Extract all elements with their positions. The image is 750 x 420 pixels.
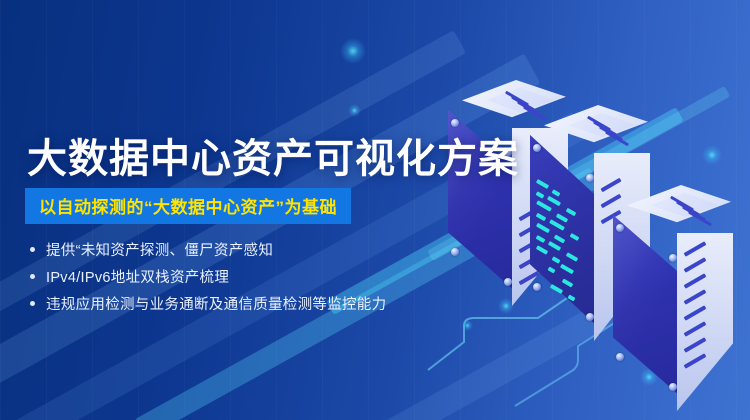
rack3-front-face	[613, 215, 679, 395]
bullet-dot-icon	[30, 274, 35, 279]
list-item: 提供“未知资产探测、僵尸资产感知	[30, 236, 386, 263]
bullet-dot-icon	[30, 247, 35, 252]
rack2-screw	[533, 144, 541, 152]
list-item-label: 违规应用检测与业务通断及通信质量检测等监控能力	[46, 293, 386, 314]
banner-hero: 大数据中心资产可视化方案 以自动探测的“大数据中心资产”为基础 提供“未知资产探…	[0, 0, 750, 420]
list-item: IPv4/IPv6地址双栈资产梳理	[30, 263, 386, 290]
glow-particle-2	[348, 104, 361, 117]
rack2-screw	[586, 313, 594, 321]
rack3-screw	[669, 254, 677, 262]
rack3-screw	[616, 224, 624, 232]
subtitle-bar: 以自动探测的“大数据中心资产”为基础	[25, 188, 351, 224]
rack1-screw	[451, 248, 459, 256]
bullet-dot-icon	[30, 301, 35, 306]
glow-particle-1	[340, 38, 366, 64]
rack2-screw	[533, 283, 541, 291]
page-title: 大数据中心资产可视化方案	[27, 126, 519, 184]
list-item: 违规应用检测与业务通断及通信质量检测等监控能力	[30, 290, 386, 317]
rack1-screw	[504, 278, 512, 286]
subtitle-text: 以自动探测的“大数据中心资产”为基础	[39, 193, 337, 218]
rack2-screw	[586, 174, 594, 182]
feature-list: 提供“未知资产探测、僵尸资产感知 IPv4/IPv6地址双栈资产梳理 违规应用检…	[30, 236, 386, 317]
list-item-label: IPv4/IPv6地址双栈资产梳理	[46, 266, 229, 287]
rack3-screw	[616, 353, 624, 361]
rack3-screw	[669, 383, 677, 391]
list-item-label: 提供“未知资产探测、僵尸资产感知	[46, 239, 273, 260]
server-rack-3	[613, 185, 750, 420]
